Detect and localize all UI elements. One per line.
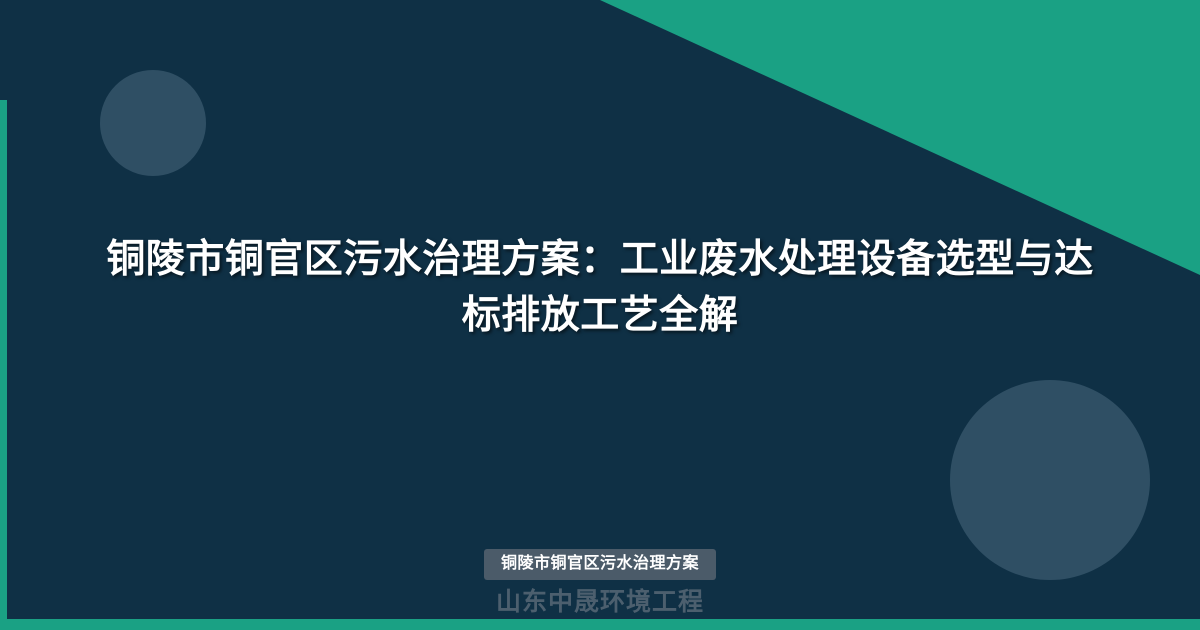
bottom-accent-bar	[0, 619, 1200, 630]
title-block: 铜陵市铜官区污水治理方案：工业废水处理设备选型与达标排放工艺全解	[100, 232, 1100, 344]
decorative-circle-top-left	[100, 70, 206, 176]
page-title: 铜陵市铜官区污水治理方案：工业废水处理设备选型与达标排放工艺全解	[100, 232, 1100, 344]
topic-badge: 铜陵市铜官区污水治理方案	[484, 549, 716, 580]
badge-row: 铜陵市铜官区污水治理方案	[0, 549, 1200, 580]
company-watermark: 山东中晟环境工程	[496, 589, 704, 617]
poster-canvas: 铜陵市铜官区污水治理方案：工业废水处理设备选型与达标排放工艺全解 铜陵市铜官区污…	[0, 0, 1200, 630]
watermark-row: 山东中晟环境工程	[0, 589, 1200, 617]
left-accent-bar	[0, 100, 7, 620]
